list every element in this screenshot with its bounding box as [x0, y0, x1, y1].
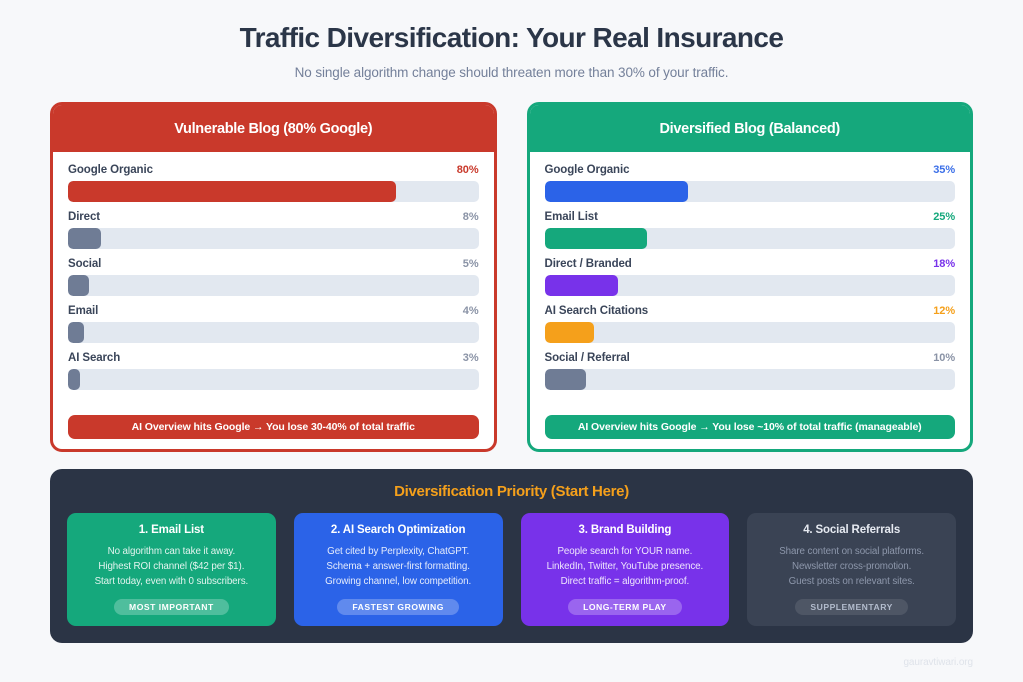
bar-label: Google Organic — [68, 164, 153, 176]
page-header: Traffic Diversification: Your Real Insur… — [0, 0, 1023, 80]
priority-cards: 1. Email List No algorithm can take it a… — [67, 513, 956, 626]
bar-value: 5% — [463, 258, 479, 270]
bar-value: 25% — [933, 211, 955, 223]
card-line: LinkedIn, Twitter, YouTube presence. — [531, 559, 720, 574]
card-line: Guest posts on relevant sites. — [757, 574, 946, 589]
card-badge: LONG-TERM PLAY — [568, 599, 682, 615]
site-watermark: gauravtiwari.org — [903, 657, 973, 668]
bar-track — [545, 181, 956, 202]
bar-row: AI Search 3% — [68, 352, 479, 390]
bar-fill — [68, 369, 80, 390]
bar-row-header: AI Search 3% — [68, 352, 479, 364]
bar-track — [68, 275, 479, 296]
bar-label: Email — [68, 305, 98, 317]
bar-row-header: Direct 8% — [68, 211, 479, 223]
card-badge: SUPPLEMENTARY — [795, 599, 907, 615]
bar-row-header: Google Organic 80% — [68, 164, 479, 176]
bar-row: Email List 25% — [545, 211, 956, 249]
panel-footnote-diversified: AI Overview hits Google → You lose ~10% … — [545, 415, 956, 439]
priority-card-brand-building[interactable]: 3. Brand Building People search for YOUR… — [521, 513, 730, 626]
bar-value: 80% — [457, 164, 479, 176]
card-line: Schema + answer-first formatting. — [304, 559, 493, 574]
bar-row: Direct 8% — [68, 211, 479, 249]
bar-row: AI Search Citations 12% — [545, 305, 956, 343]
bar-track — [68, 228, 479, 249]
bar-label: Google Organic — [545, 164, 630, 176]
page-subtitle: No single algorithm change should threat… — [0, 65, 1023, 80]
bar-row-header: Social 5% — [68, 258, 479, 270]
bar-fill — [68, 228, 101, 249]
panel-header-vulnerable: Vulnerable Blog (80% Google) — [53, 105, 494, 152]
bar-row: Email 4% — [68, 305, 479, 343]
bar-row: Google Organic 80% — [68, 164, 479, 202]
card-line: Get cited by Perplexity, ChatGPT. — [304, 544, 493, 559]
bar-value: 4% — [463, 305, 479, 317]
bar-row-header: Google Organic 35% — [545, 164, 956, 176]
priority-card-email-list[interactable]: 1. Email List No algorithm can take it a… — [67, 513, 276, 626]
bar-value: 10% — [933, 352, 955, 364]
priority-section: Diversification Priority (Start Here) 1.… — [50, 469, 973, 643]
panel-header-diversified: Diversified Blog (Balanced) — [530, 105, 971, 152]
bar-label: AI Search Citations — [545, 305, 649, 317]
bar-value: 35% — [933, 164, 955, 176]
bar-value: 8% — [463, 211, 479, 223]
bar-track — [545, 228, 956, 249]
card-title: 2. AI Search Optimization — [304, 524, 493, 536]
panel-footnote-vulnerable: AI Overview hits Google → You lose 30-40… — [68, 415, 479, 439]
bar-label: AI Search — [68, 352, 120, 364]
bar-row-header: Social / Referral 10% — [545, 352, 956, 364]
comparison-panels: Vulnerable Blog (80% Google) Google Orga… — [0, 80, 1023, 452]
bar-fill — [545, 181, 689, 202]
bar-fill — [545, 322, 594, 343]
card-line: Newsletter cross-promotion. — [757, 559, 946, 574]
card-badge: MOST IMPORTANT — [114, 599, 229, 615]
bar-row: Google Organic 35% — [545, 164, 956, 202]
card-line: People search for YOUR name. — [531, 544, 720, 559]
bar-row-header: Email 4% — [68, 305, 479, 317]
bar-row-header: Direct / Branded 18% — [545, 258, 956, 270]
panel-diversified-blog: Diversified Blog (Balanced) Google Organ… — [527, 102, 974, 452]
bar-track — [68, 369, 479, 390]
priority-card-ai-search-optimization[interactable]: 2. AI Search Optimization Get cited by P… — [294, 513, 503, 626]
bar-value: 12% — [933, 305, 955, 317]
panel-body-vulnerable: Google Organic 80% Direct 8% Social — [53, 152, 494, 409]
bar-value: 18% — [933, 258, 955, 270]
bar-label: Direct / Branded — [545, 258, 632, 270]
bar-fill — [68, 322, 84, 343]
priority-title: Diversification Priority (Start Here) — [67, 483, 956, 500]
bar-fill — [68, 181, 396, 202]
bar-fill — [545, 275, 619, 296]
bar-row: Social 5% — [68, 258, 479, 296]
bar-track — [68, 322, 479, 343]
card-line: Start today, even with 0 subscribers. — [77, 574, 266, 589]
panel-vulnerable-blog: Vulnerable Blog (80% Google) Google Orga… — [50, 102, 497, 452]
bar-row-header: Email List 25% — [545, 211, 956, 223]
card-line: Highest ROI channel ($42 per $1). — [77, 559, 266, 574]
bar-row-header: AI Search Citations 12% — [545, 305, 956, 317]
card-badge: FASTEST GROWING — [337, 599, 459, 615]
bar-track — [68, 181, 479, 202]
panel-body-diversified: Google Organic 35% Email List 25% Dire — [530, 152, 971, 409]
card-line: Share content on social platforms. — [757, 544, 946, 559]
bar-track — [545, 369, 956, 390]
bar-row: Direct / Branded 18% — [545, 258, 956, 296]
bar-fill — [545, 228, 648, 249]
bar-label: Email List — [545, 211, 598, 223]
bar-value: 3% — [463, 352, 479, 364]
bar-track — [545, 275, 956, 296]
priority-card-social-referrals[interactable]: 4. Social Referrals Share content on soc… — [747, 513, 956, 626]
card-line: Growing channel, low competition. — [304, 574, 493, 589]
card-title: 3. Brand Building — [531, 524, 720, 536]
card-line: Direct traffic = algorithm-proof. — [531, 574, 720, 589]
page-title: Traffic Diversification: Your Real Insur… — [0, 22, 1023, 54]
bar-fill — [68, 275, 89, 296]
bar-row: Social / Referral 10% — [545, 352, 956, 390]
card-title: 4. Social Referrals — [757, 524, 946, 536]
card-line: No algorithm can take it away. — [77, 544, 266, 559]
bar-label: Social — [68, 258, 101, 270]
bar-fill — [545, 369, 586, 390]
card-title: 1. Email List — [77, 524, 266, 536]
bar-track — [545, 322, 956, 343]
bar-label: Social / Referral — [545, 352, 630, 364]
bar-label: Direct — [68, 211, 100, 223]
